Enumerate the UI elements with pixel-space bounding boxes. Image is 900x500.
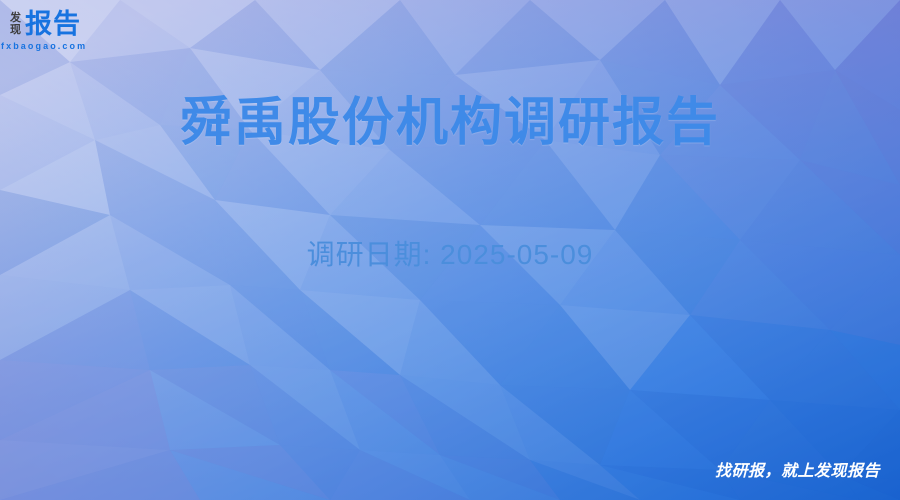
brand-logo[interactable]: 发 现 报告 fxbaogao.com: [10, 11, 87, 52]
footer-slogan: 找研报，就上发现报告: [715, 462, 880, 482]
brand-logo-wordmark: 报告: [25, 11, 87, 38]
brand-logo-stacked-mark: 发 现: [10, 11, 21, 36]
report-cover-page: 发 现 报告 fxbaogao.com 舜禹股份机构调研报告 调研日期: 202…: [0, 0, 900, 500]
cover-headline-block: 舜禹股份机构调研报告: [0, 92, 900, 154]
brand-logo-text-block: 报告 fxbaogao.com: [25, 11, 87, 52]
cover-subtitle-survey-date: 调研日期: 2025-05-09: [0, 236, 900, 274]
brand-logo-char-top: 发: [10, 12, 21, 24]
brand-logo-char-bottom: 现: [10, 24, 21, 36]
brand-logo-url: fxbaogao.com: [1, 40, 87, 52]
page-title: 舜禹股份机构调研报告: [0, 92, 900, 154]
